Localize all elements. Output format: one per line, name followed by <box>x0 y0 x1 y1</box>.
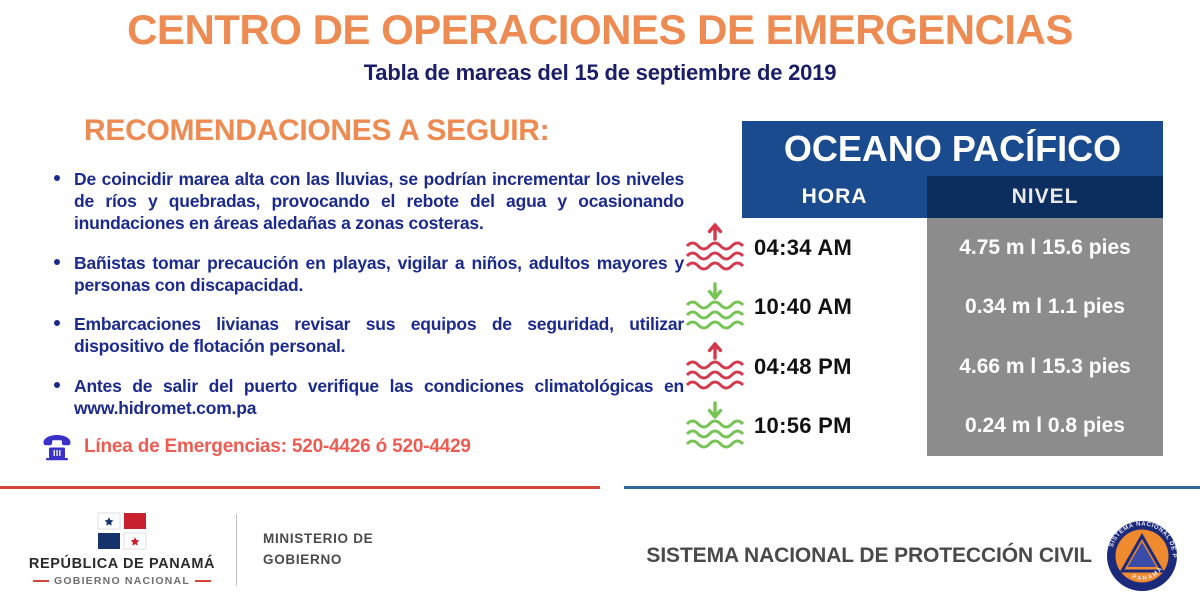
tide-direction-cell <box>676 281 754 333</box>
tide-table-column-headers: HORA NIVEL <box>742 176 1163 218</box>
tide-level: 4.75 m l 15.6 pies <box>927 236 1163 260</box>
waves-up-icon <box>683 341 747 393</box>
footer-right: SISTEMA NACIONAL DE PROTECCIÓN CIVIL SIS… <box>646 520 1178 592</box>
tide-time: 10:40 AM <box>754 294 927 320</box>
ocean-title: OCEANO PACÍFICO <box>784 128 1121 170</box>
ministry-line-1: MINISTERIO DE <box>263 529 373 549</box>
column-header-nivel: NIVEL <box>927 176 1163 218</box>
waves-down-icon <box>683 400 747 452</box>
tide-direction-cell <box>676 341 754 393</box>
footer-left: REPÚBLICA DE PANAMÁ GOBIERNO NACIONAL MI… <box>22 512 373 587</box>
bullet-dot-icon <box>54 259 60 265</box>
footer-divider <box>236 514 237 586</box>
sinaproc-logo-icon: SISTEMA NACIONAL DE PROTECCION CIVIL PAN… <box>1106 520 1178 592</box>
tide-time: 04:34 AM <box>754 235 927 261</box>
recommendations-heading: RECOMENDACIONES A SEGUIR: <box>84 114 549 148</box>
tide-time: 04:48 PM <box>754 354 927 380</box>
ministry-line-2: GOBIERNO <box>263 550 373 570</box>
table-row: 04:48 PM 4.66 m l 15.3 pies <box>742 337 1163 397</box>
list-item-text: Embarcaciones livianas revisar sus equip… <box>74 314 684 356</box>
bullet-dot-icon <box>54 320 60 326</box>
panama-flag-icon <box>96 512 148 552</box>
waves-down-icon <box>683 281 747 333</box>
tide-direction-cell <box>676 222 754 274</box>
telephone-icon <box>40 432 74 462</box>
divider-blue <box>624 486 1200 489</box>
national-government-label: GOBIERNO NACIONAL <box>22 575 222 587</box>
tide-level: 4.66 m l 15.3 pies <box>927 355 1163 379</box>
ministry-block: MINISTERIO DE GOBIERNO <box>263 529 373 570</box>
waves-up-icon <box>683 222 747 274</box>
bullet-dot-icon <box>54 382 60 388</box>
table-row: 04:34 AM 4.75 m l 15.6 pies <box>742 218 1163 278</box>
list-item-text: Bañistas tomar precaución en playas, vig… <box>74 253 684 295</box>
list-item: De coincidir marea alta con las lluvias,… <box>44 168 684 235</box>
column-header-hora-label: HORA <box>802 185 868 209</box>
table-row: 10:56 PM 0.24 m l 0.8 pies <box>742 397 1163 457</box>
tide-level: 0.34 m l 1.1 pies <box>927 295 1163 319</box>
civil-protection-label: SISTEMA NACIONAL DE PROTECCIÓN CIVIL <box>646 544 1092 568</box>
column-header-nivel-label: NIVEL <box>1012 185 1079 209</box>
page-subtitle: Tabla de mareas del 15 de septiembre de … <box>0 60 1200 86</box>
page-title: CENTRO DE OPERACIONES DE EMERGENCIAS <box>0 6 1200 54</box>
list-item: Antes de salir del puerto verifique las … <box>44 375 684 419</box>
tide-direction-cell <box>676 400 754 452</box>
recommendations-list: De coincidir marea alta con las lluvias,… <box>44 168 684 419</box>
tide-table-body: 04:34 AM 4.75 m l 15.6 pies 10:40 AM 0.3… <box>742 218 1163 456</box>
bullet-dot-icon <box>54 175 60 181</box>
republic-of-panama-block: REPÚBLICA DE PANAMÁ GOBIERNO NACIONAL <box>22 512 222 587</box>
table-row: 10:40 AM 0.34 m l 1.1 pies <box>742 278 1163 338</box>
national-government-text: GOBIERNO NACIONAL <box>54 575 190 587</box>
divider-red <box>0 486 600 489</box>
list-item: Bañistas tomar precaución en playas, vig… <box>44 252 684 296</box>
tide-table: OCEANO PACÍFICO HORA NIVEL <box>742 121 1163 456</box>
list-item-text: De coincidir marea alta con las lluvias,… <box>74 169 684 233</box>
emergency-line: Línea de Emergencias: 520-4426 ó 520-442… <box>40 432 471 462</box>
dash-left-icon <box>33 580 49 582</box>
tide-level: 0.24 m l 0.8 pies <box>927 414 1163 438</box>
emergency-line-label: Línea de Emergencias: 520-4426 ó 520-442… <box>84 436 471 458</box>
tide-time: 10:56 PM <box>754 413 927 439</box>
dash-right-icon <box>195 580 211 582</box>
tide-infographic: CENTRO DE OPERACIONES DE EMERGENCIAS Tab… <box>0 0 1200 600</box>
list-item: Embarcaciones livianas revisar sus equip… <box>44 313 684 357</box>
tide-table-ocean-header: OCEANO PACÍFICO <box>742 121 1163 176</box>
republic-label: REPÚBLICA DE PANAMÁ <box>22 556 222 572</box>
column-header-hora: HORA <box>742 176 927 218</box>
list-item-text: Antes de salir del puerto verifique las … <box>74 376 684 418</box>
